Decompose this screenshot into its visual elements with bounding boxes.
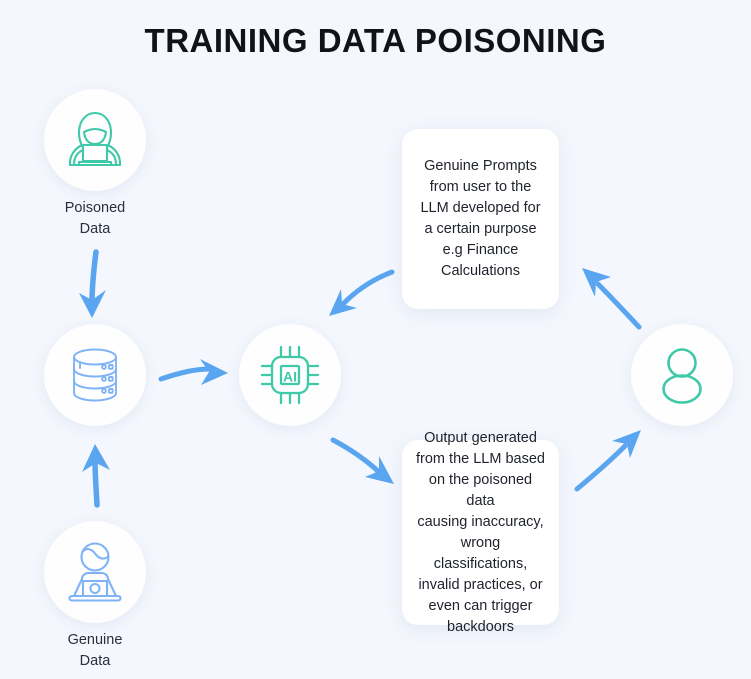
genuine-data-circle [44,521,146,623]
llm-output-text: Output generated from the LLM based on t… [416,428,545,638]
arrow-ai-to-output [333,440,394,484]
hacker-hoodie-laptop-icon [60,105,130,175]
page-title: TRAINING DATA POISONING [0,22,751,60]
arrow-prompts-to-ai [329,272,392,316]
arrow-database-to-ai [161,359,228,385]
ai-chip-circle: AI [239,324,341,426]
database-circle [44,324,146,426]
database-cylinder-icon [64,344,126,406]
user-person-icon [651,344,713,406]
card-genuine-prompts: Genuine Prompts from user to the LLM dev… [402,129,559,309]
person-at-laptop-icon [61,538,129,606]
poisoned-data-circle [44,89,146,191]
diagram-canvas: TRAINING DATA POISONING [0,0,751,679]
arrow-output-to-user [577,430,641,489]
user-circle [631,324,733,426]
arrow-genuine-to-database [82,444,110,505]
arrow-poisoned-to-database [79,252,106,318]
ai-chip-icon: AI [257,342,323,408]
arrow-user-to-prompts [582,268,639,327]
genuine-data-label: Genuine Data [19,630,171,672]
genuine-prompts-text: Genuine Prompts from user to the LLM dev… [420,156,540,282]
card-llm-output: Output generated from the LLM based on t… [402,440,559,625]
poisoned-data-label: Poisoned Data [19,198,171,240]
ai-chip-label: AI [283,369,297,385]
